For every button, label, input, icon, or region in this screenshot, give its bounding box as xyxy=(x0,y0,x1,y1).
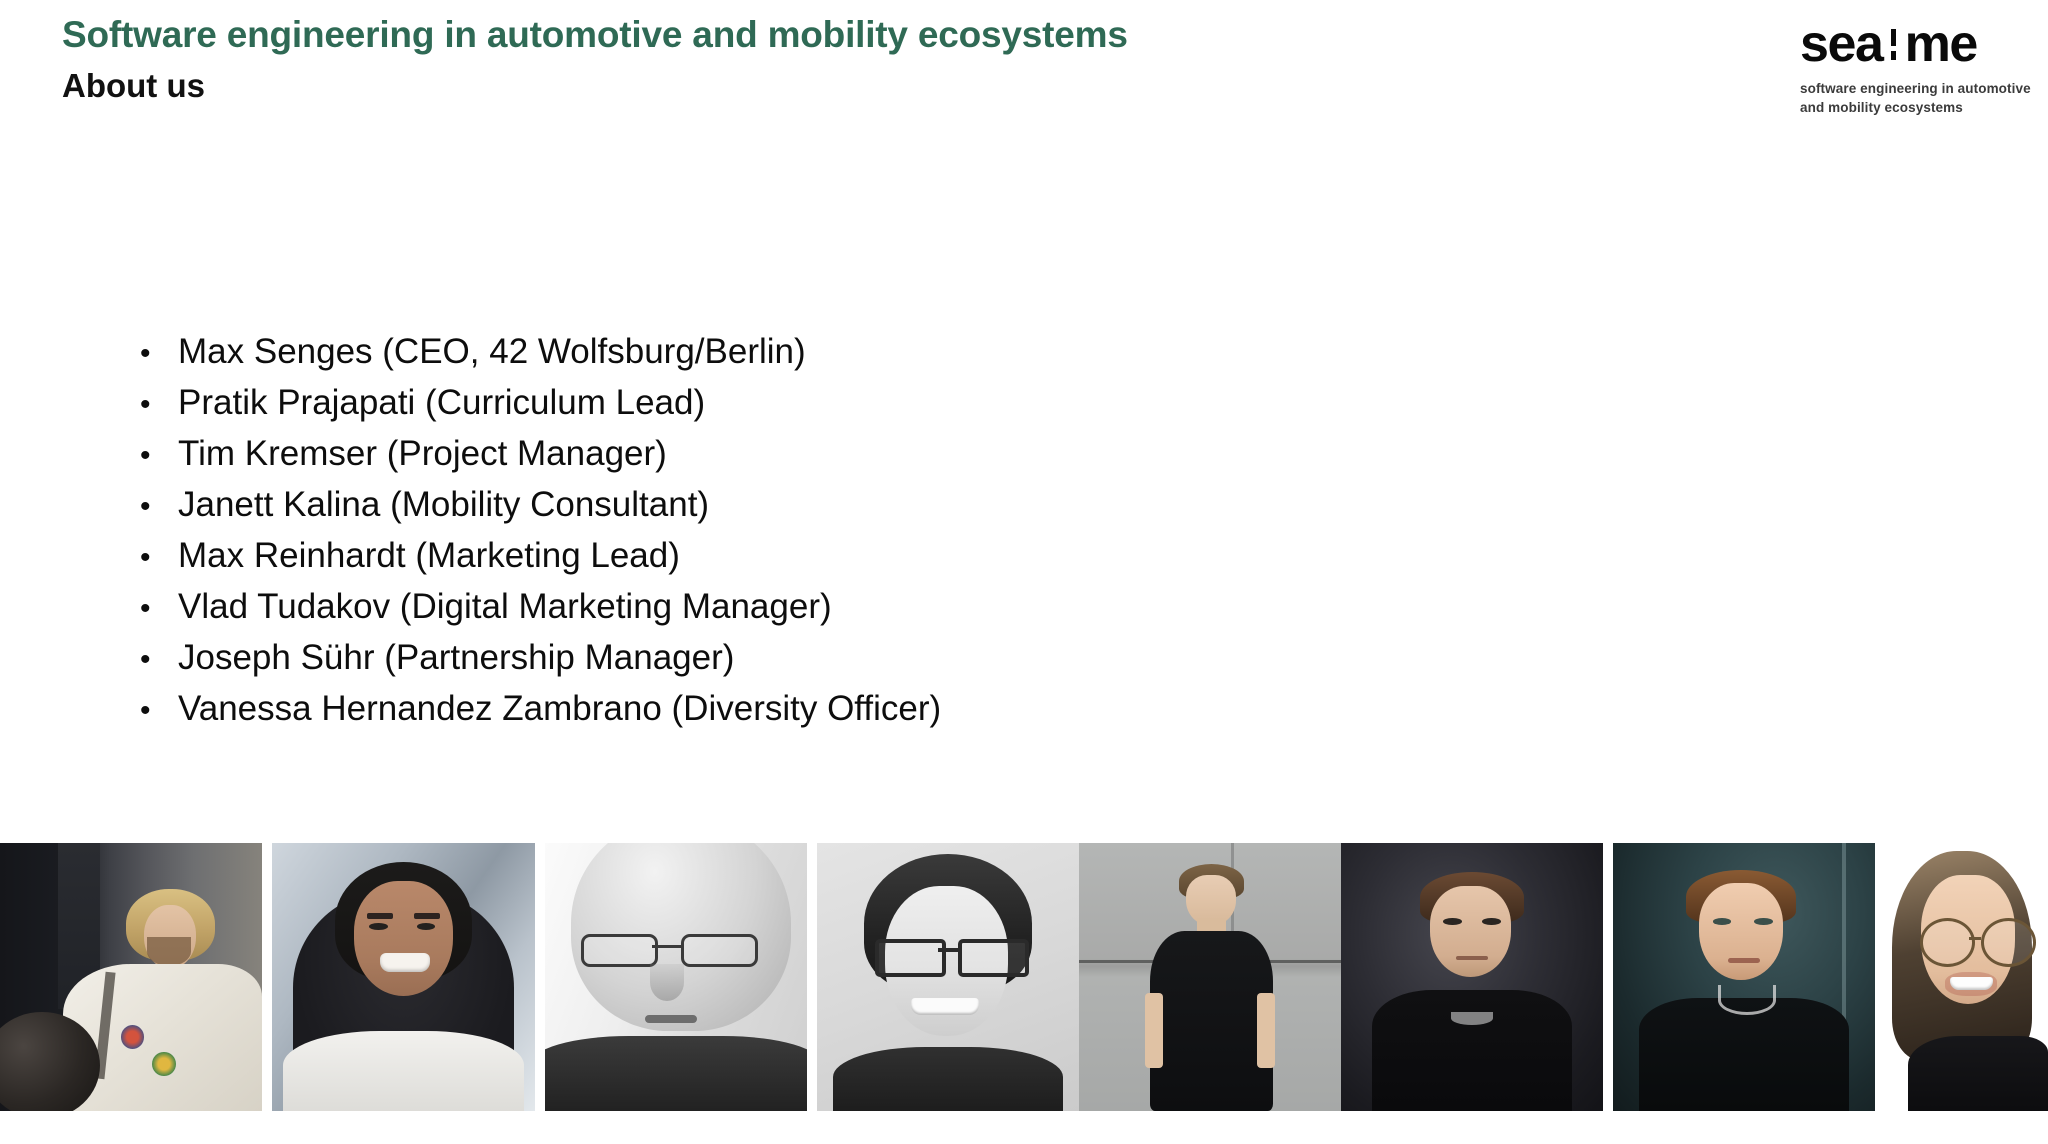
team-member-list: • Max Senges (CEO, 42 Wolfsburg/Berlin) … xyxy=(140,326,941,734)
logo-wordmark: sea me xyxy=(1800,18,2030,70)
logo-tagline-line1: software engineering in automotive xyxy=(1800,80,2030,99)
list-item: • Vanessa Hernandez Zambrano (Diversity … xyxy=(140,683,941,734)
bullet-icon: • xyxy=(140,685,178,736)
list-item: • Max Reinhardt (Marketing Lead) xyxy=(140,530,941,581)
list-item-label: Tim Kremser (Project Manager) xyxy=(178,428,667,479)
list-item-label: Vanessa Hernandez Zambrano (Diversity Of… xyxy=(178,683,941,734)
bullet-icon: • xyxy=(140,532,178,583)
list-item: • Janett Kalina (Mobility Consultant) xyxy=(140,479,941,530)
list-item: • Max Senges (CEO, 42 Wolfsburg/Berlin) xyxy=(140,326,941,377)
logo-word-me: me xyxy=(1905,18,1977,70)
list-item-label: Max Reinhardt (Marketing Lead) xyxy=(178,530,680,581)
logo-tagline-line2: and mobility ecosystems xyxy=(1800,99,2030,118)
page-subtitle: About us xyxy=(62,66,1562,106)
slide-header: Software engineering in automotive and m… xyxy=(62,14,1562,106)
page-title: Software engineering in automotive and m… xyxy=(62,14,1562,57)
bullet-icon: • xyxy=(140,634,178,685)
list-item: • Joseph Sühr (Partnership Manager) xyxy=(140,632,941,683)
team-photo-5 xyxy=(1079,843,1341,1111)
list-item-label: Max Senges (CEO, 42 Wolfsburg/Berlin) xyxy=(178,326,806,377)
team-photo-7 xyxy=(1613,843,1875,1111)
list-item-label: Vlad Tudakov (Digital Marketing Manager) xyxy=(178,581,832,632)
bullet-icon: • xyxy=(140,328,178,379)
team-photo-1 xyxy=(0,843,262,1111)
list-item: • Vlad Tudakov (Digital Marketing Manage… xyxy=(140,581,941,632)
team-photo-6 xyxy=(1341,843,1603,1111)
team-photo-strip xyxy=(0,843,2048,1111)
list-item-label: Pratik Prajapati (Curriculum Lead) xyxy=(178,377,705,428)
bullet-icon: • xyxy=(140,583,178,634)
logo-word-sea: sea xyxy=(1800,18,1883,70)
team-photo-2 xyxy=(272,843,535,1111)
seame-logo: sea me software engineering in automotiv… xyxy=(1800,18,2030,117)
list-item: • Pratik Prajapati (Curriculum Lead) xyxy=(140,377,941,428)
bullet-icon: • xyxy=(140,481,178,532)
slide-canvas: Software engineering in automotive and m… xyxy=(0,0,2048,1144)
dashed-bar-icon xyxy=(1883,24,1905,64)
bullet-icon: • xyxy=(140,430,178,481)
team-photo-8 xyxy=(1885,843,2048,1111)
list-item-label: Janett Kalina (Mobility Consultant) xyxy=(178,479,709,530)
team-photo-4 xyxy=(817,843,1079,1111)
team-photo-3 xyxy=(545,843,807,1111)
logo-tagline: software engineering in automotive and m… xyxy=(1800,80,2030,117)
list-item: • Tim Kremser (Project Manager) xyxy=(140,428,941,479)
bullet-icon: • xyxy=(140,379,178,430)
list-item-label: Joseph Sühr (Partnership Manager) xyxy=(178,632,734,683)
